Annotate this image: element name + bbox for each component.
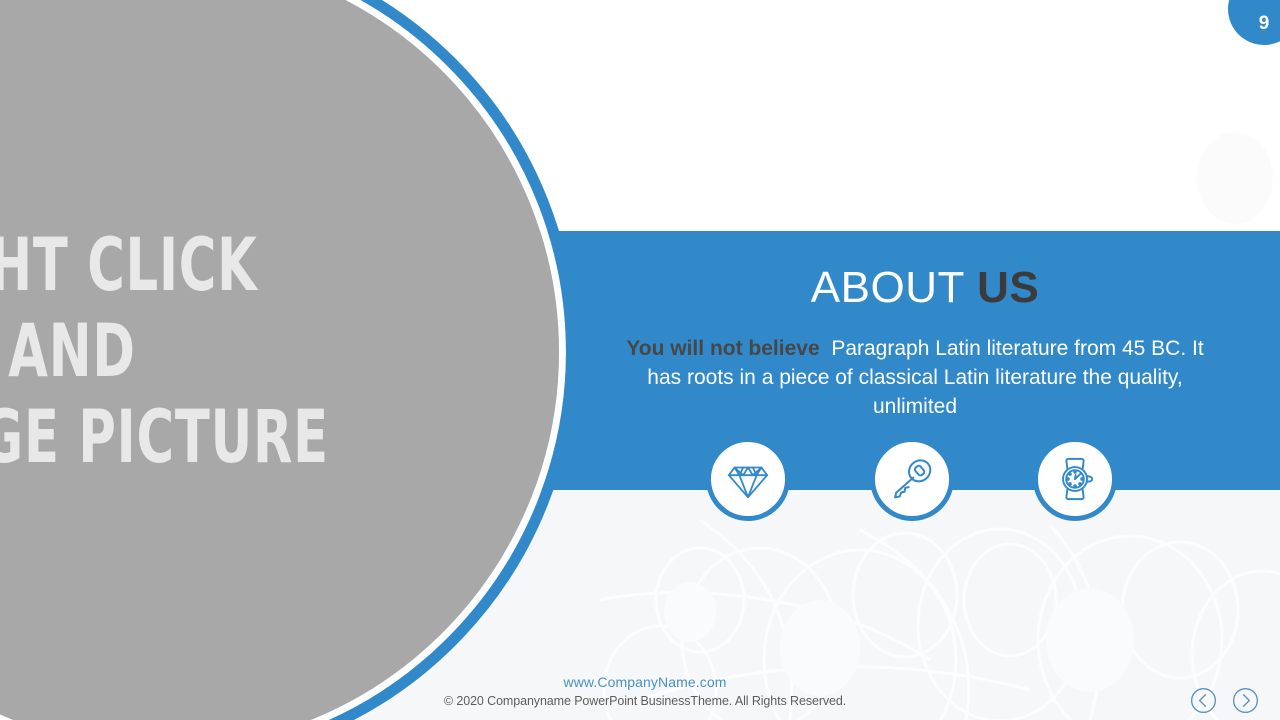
feature-icon-1[interactable] (706, 437, 790, 521)
chevron-right-icon (1232, 687, 1259, 714)
footer-copyright: © 2020 Companyname PowerPoint BusinessTh… (380, 692, 910, 710)
feature-icon-2[interactable] (870, 437, 954, 521)
picture-placeholder[interactable]: RIGHT CLICK AND CHANGE PICTURE (0, 0, 577, 720)
feature-icon-3[interactable] (1033, 437, 1117, 521)
body-paragraph: You will not believe Paragraph Latin lit… (625, 334, 1205, 421)
page-title: ABOUT US (570, 262, 1280, 314)
page-title-light: ABOUT (811, 263, 965, 312)
page-title-bold: US (977, 263, 1039, 312)
slide-navigation (1190, 687, 1266, 717)
footer: www.CompanyName.com © 2020 Companyname P… (380, 673, 910, 710)
diamond-icon (725, 456, 771, 502)
next-slide-button[interactable] (1232, 687, 1259, 714)
key-icon (889, 456, 935, 502)
page-number-value: 9 (1259, 13, 1270, 35)
body-lead-in: You will not believe (626, 337, 819, 360)
watch-icon (1052, 456, 1098, 502)
slide-canvas: RIGHT CLICK AND CHANGE PICTURE ABOUT US … (0, 0, 1280, 720)
feature-icon-row (570, 437, 1280, 532)
footer-website-link[interactable]: www.CompanyName.com (380, 673, 910, 692)
prev-slide-button[interactable] (1190, 687, 1217, 714)
chevron-left-icon (1190, 687, 1217, 714)
picture-ring-outer (0, 0, 577, 720)
